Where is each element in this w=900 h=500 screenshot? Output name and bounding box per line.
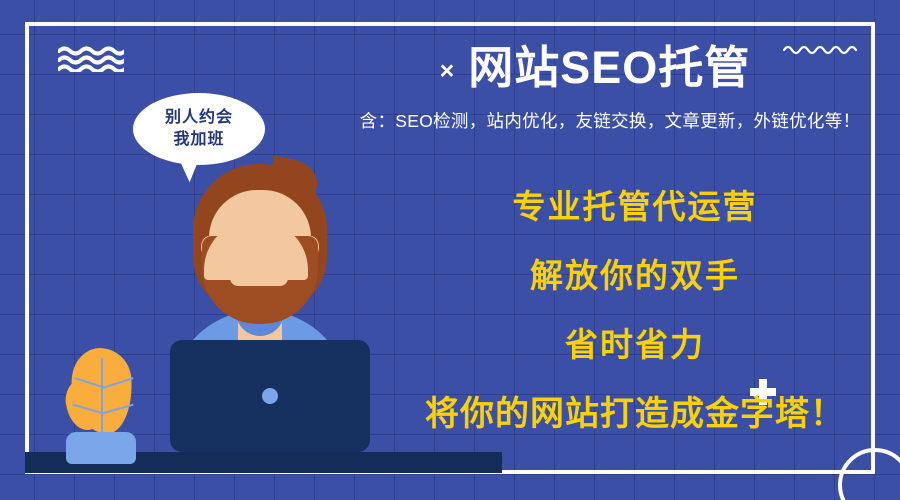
slogan-line: 将你的网站打造成金字塔！ [390, 397, 880, 431]
page-subtitle: 含：SEO检测，站内优化，友链交换，文章更新，外链优化等！ [330, 108, 890, 133]
title-bullet-mark: × [440, 59, 455, 84]
potted-plant-icon [58, 348, 158, 458]
headline-block: × 网站SEO托管 含：SEO检测，站内优化，友链交换，文章更新，外链优化等！ [330, 42, 890, 133]
laptop-icon [170, 340, 370, 452]
slogan-line: 省时省力 [390, 328, 880, 361]
slogan-line: 解放你的双手 [390, 259, 880, 292]
page-title: 网站SEO托管 [468, 42, 750, 94]
person-mouth [230, 270, 288, 286]
circle-outline-icon [838, 448, 900, 500]
speech-bubble: 别人约会 我加班 [133, 93, 265, 165]
slogan-line: 专业托管代运营 [390, 190, 880, 223]
laptop-logo-dot [262, 388, 278, 404]
title-row: × 网站SEO托管 [300, 42, 890, 94]
seo-hosting-banner: × 网站SEO托管 含：SEO检测，站内优化，友链交换，文章更新，外链优化等！ … [0, 0, 900, 500]
speech-bubble-line-1: 别人约会 [165, 107, 233, 129]
plant-pot [66, 432, 136, 464]
speech-bubble-line-2: 我加班 [173, 129, 224, 151]
wave-triple-icon [58, 46, 124, 72]
slogan-list: 专业托管代运营 解放你的双手 省时省力 将你的网站打造成金字塔！ [390, 190, 880, 431]
plant-leaf-vein [101, 358, 103, 436]
